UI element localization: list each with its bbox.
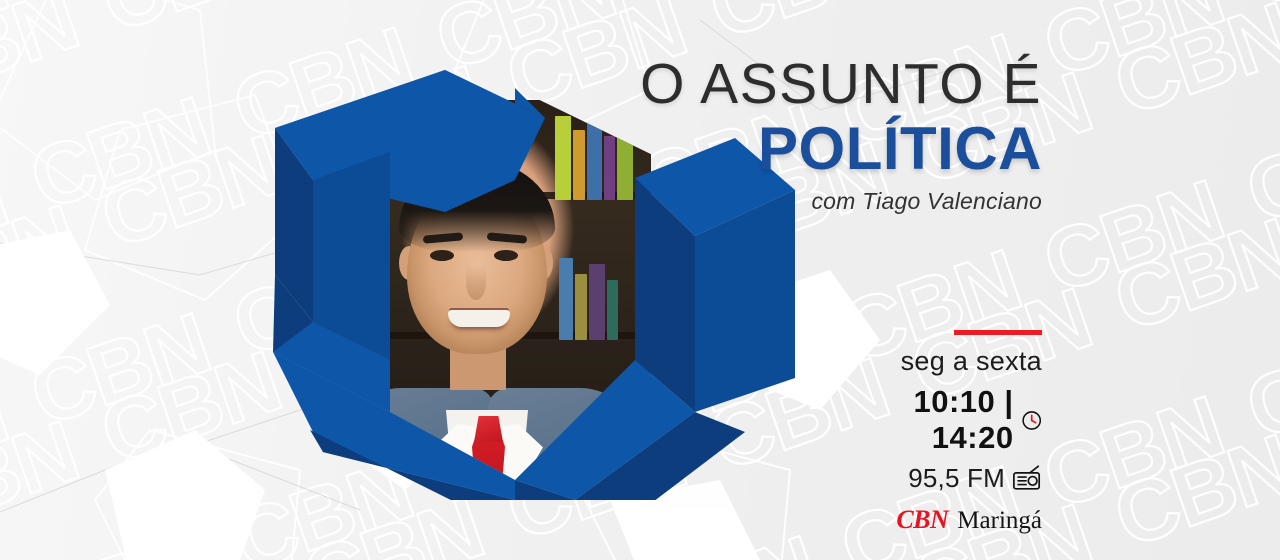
watermark-word: CBN	[626, 517, 829, 560]
watermark-word: CBN	[1032, 377, 1235, 529]
schedule-frequency-row: 95,5 FM	[862, 463, 1042, 494]
watermark-word: CBN	[1234, 308, 1280, 460]
watermark-word: CBN	[19, 78, 222, 230]
watermark-word: CBN	[1032, 161, 1235, 313]
frequency-label: 95,5 FM	[908, 463, 1005, 494]
schedule-times-row: 10:10 | 14:20	[862, 384, 1042, 456]
watermark-word: CBN	[19, 510, 222, 560]
watermark-word: CBN	[1032, 0, 1235, 98]
schedule-days: seg a sexta	[862, 348, 1042, 375]
watermark-word: CBN	[89, 0, 292, 53]
schedule-block: seg a sexta 10:10 | 14:20 95,5 FM CBN M	[862, 330, 1042, 535]
cbn-brand-text: CBN	[896, 505, 948, 535]
watermark-word: CBN	[1102, 416, 1280, 560]
watermark-word: CBN	[0, 186, 89, 338]
host-credit: com Tiago Valenciano	[640, 188, 1042, 215]
watermark-word: CBN	[89, 548, 292, 560]
watermark-word: CBN	[0, 0, 19, 84]
watermark-word: CBN	[697, 0, 900, 59]
title-line-2: POLÍTICA	[640, 117, 1042, 180]
watermark-word: CBN	[697, 555, 900, 560]
watermark-word: CBN	[1102, 0, 1280, 136]
radio-show-banner: CBNCBNCBNCBNCBNCBNCBNCBNCBNCBNCBNCBNCBNC…	[0, 0, 1280, 560]
station-logo: CBN Maringá	[862, 505, 1042, 535]
watermark-word: CBN	[1102, 200, 1280, 352]
watermark-word: CBN	[626, 0, 829, 21]
red-accent-bar	[954, 330, 1042, 335]
title-line-1: O ASSUNTO É	[640, 56, 1042, 113]
watermark-word: CBN	[19, 0, 222, 15]
watermark-word: CBN	[0, 402, 89, 554]
watermark-word: CBN	[1234, 0, 1280, 28]
show-title-block: O ASSUNTO É POLÍTICA com Tiago Valencian…	[640, 56, 1042, 215]
watermark-word: CBN	[0, 0, 89, 123]
watermark-word: CBN	[0, 364, 19, 516]
radio-icon	[1012, 465, 1042, 492]
station-city-text: Maringá	[957, 507, 1042, 535]
watermark-word: CBN	[19, 294, 222, 446]
watermark-word: CBN	[1234, 92, 1280, 244]
clock-icon	[1021, 407, 1042, 434]
schedule-times: 10:10 | 14:20	[862, 384, 1014, 456]
watermark-word: CBN	[0, 148, 19, 300]
